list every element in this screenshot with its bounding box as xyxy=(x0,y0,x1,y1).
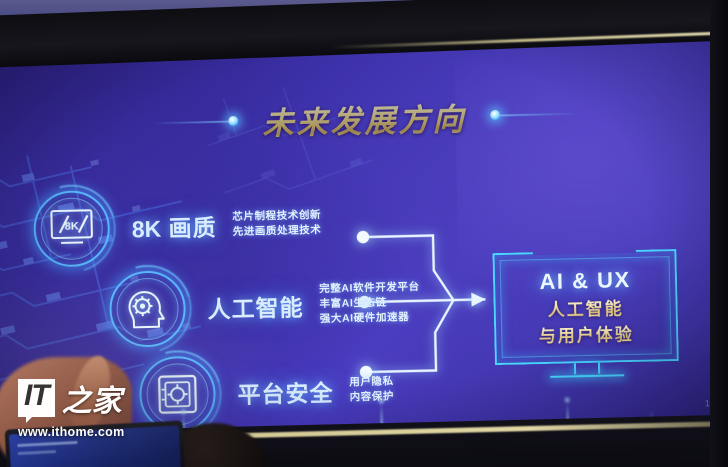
svg-text:8K: 8K xyxy=(65,221,79,233)
watermark-logo: IT 之家 xyxy=(18,376,122,420)
feature-label-8k-cn: 画质 xyxy=(168,214,217,241)
result-title-cn-line1: 人工智能 xyxy=(547,294,624,321)
feature-details-8k: 芯片制程技术创新 先进画质处理技术 xyxy=(232,209,321,240)
presentation-photo: 未来发展方向 xyxy=(0,0,728,467)
watermark-logo-it: IT xyxy=(18,379,55,417)
feature-label-8k: 8K 画质 xyxy=(131,208,217,244)
feature-label-8k-en: 8K xyxy=(131,216,161,243)
feature-details-ai: 完整AI软件开发平台 丰富AI生态链 强大AI硬件加速器 xyxy=(319,281,420,327)
feature-detail-line: 完整AI软件开发平台 xyxy=(319,281,420,297)
feature-row-ai: 人工智能 完整AI软件开发平台 丰富AI生态链 强大AI硬件加速器 xyxy=(109,265,421,348)
result-title-en: AI & UX xyxy=(539,267,631,295)
feature-row-8k: 8K 8K 画质 芯片制程技术创新 先进画质处理技术 xyxy=(33,185,322,268)
feature-detail-line: 先进画质处理技术 xyxy=(233,224,322,240)
feature-detail-line: 芯片制程技术创新 xyxy=(232,209,321,225)
feature-detail-line: 强大AI硬件加速器 xyxy=(320,311,421,327)
watermark-logo-cn: 之家 xyxy=(62,376,122,420)
watermark-url: www.ithome.com xyxy=(18,425,125,439)
feature-label-ai: 人工智能 xyxy=(207,288,304,324)
monitor-8k-icon: 8K xyxy=(33,190,111,268)
feature-detail-line: 丰富AI生态链 xyxy=(319,296,420,312)
ithome-watermark: IT 之家 www.ithome.com xyxy=(18,376,125,439)
